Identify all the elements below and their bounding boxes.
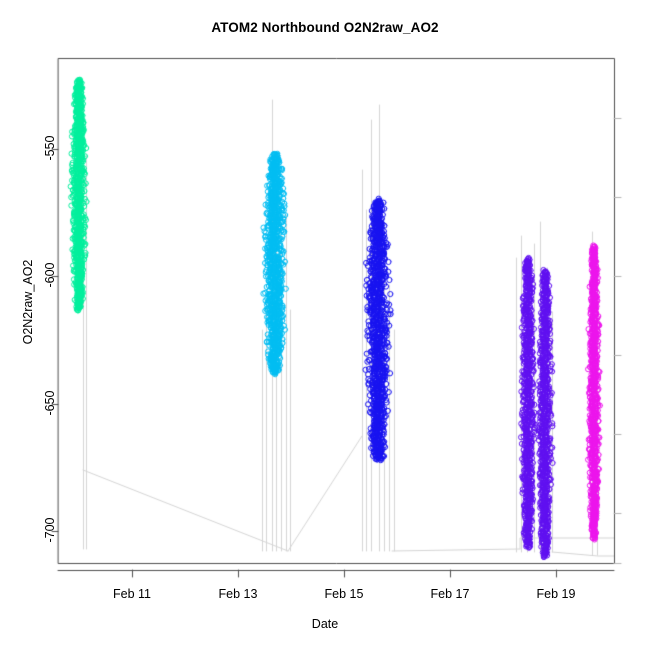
- x-tick-label: Feb 17: [431, 587, 470, 601]
- page-title: ATOM2 Northbound O2N2raw_AO2: [0, 20, 650, 35]
- x-axis-title: Date: [0, 617, 650, 631]
- scatter-plot-canvas: [0, 0, 650, 650]
- y-axis-title: O2N2raw_AO2: [21, 222, 35, 382]
- x-tick-label: Feb 13: [219, 587, 258, 601]
- chart-container: ATOM2 Northbound O2N2raw_AO2 Date O2N2ra…: [0, 0, 650, 650]
- y-tick-label-left: -650: [43, 385, 57, 421]
- x-tick-label: Feb 11: [113, 587, 151, 601]
- y-tick-label-left: -700: [43, 512, 57, 548]
- x-tick-label: Feb 15: [325, 587, 364, 601]
- y-tick-label-left: -550: [43, 130, 57, 166]
- y-tick-label-left: -600: [43, 257, 57, 293]
- x-tick-label: Feb 19: [537, 587, 576, 601]
